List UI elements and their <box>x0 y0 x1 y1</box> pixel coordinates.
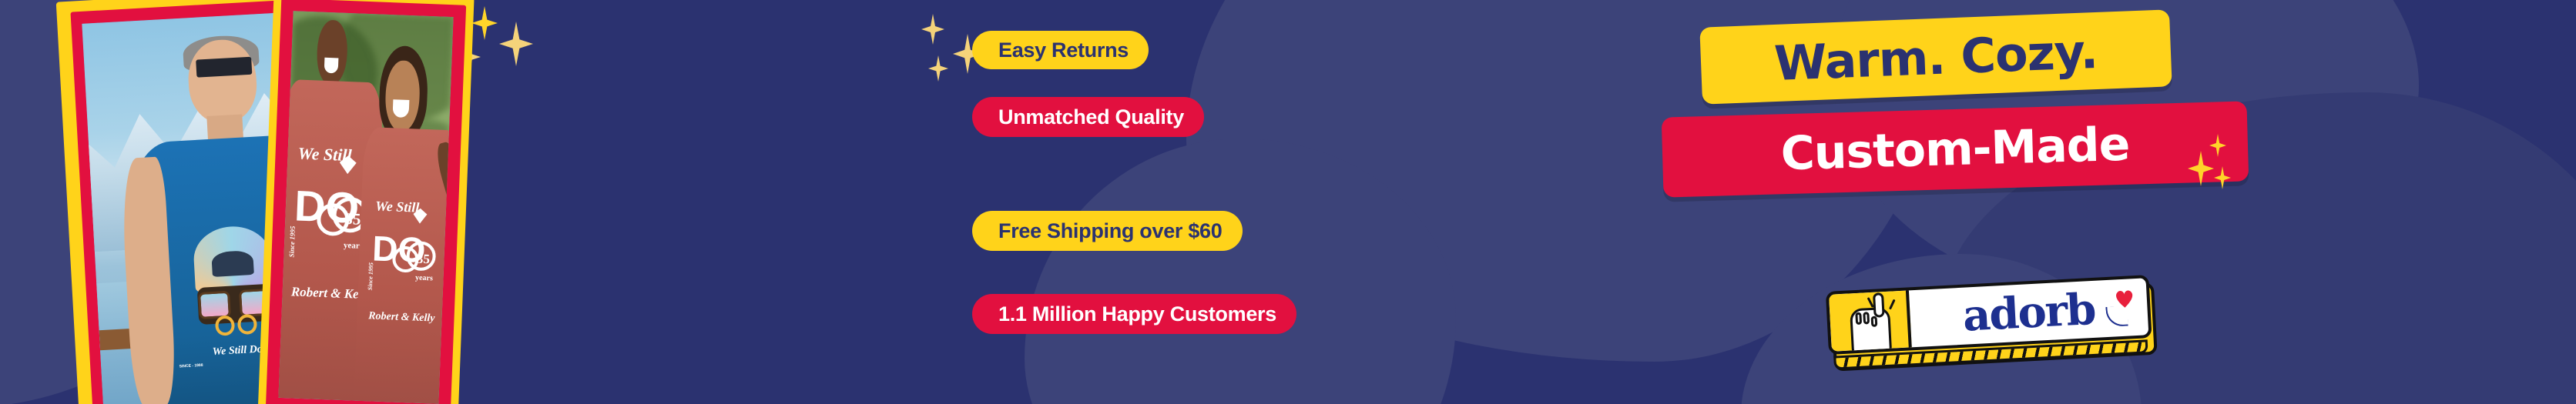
sparkle-star-icon <box>499 22 533 66</box>
sparkle-star-icon <box>471 6 498 40</box>
badge-label: 1.1 Million Happy Customers <box>998 302 1276 326</box>
headline-custom-made: Custom-Made <box>1662 101 2249 197</box>
logo-yellow-square <box>1829 290 1912 351</box>
logo-wordmark: adorb <box>1962 288 2096 338</box>
shirt-since-text: Since 1995 <box>288 226 297 258</box>
product-photo-rust-shirts[interactable]: We Still DO Since 1995 35 years Robert &… <box>257 0 474 404</box>
badge-easy-returns[interactable]: Easy Returns <box>972 31 1149 69</box>
heart-balloon-string <box>2105 306 2128 327</box>
shirt-since-text: SINCE - 1998 <box>179 363 203 369</box>
heart-balloon-icon <box>2114 289 2135 308</box>
badge-label: Unmatched Quality <box>998 105 1184 129</box>
pointing-hand-icon <box>1850 307 1892 355</box>
badge-label: Easy Returns <box>998 38 1129 62</box>
shirt-years-number: 35 <box>410 252 437 265</box>
shirt-years-label: years <box>409 274 438 282</box>
badge-unmatched-quality[interactable]: Unmatched Quality <box>972 97 1204 137</box>
badge-happy-customers[interactable]: 1.1 Million Happy Customers <box>972 294 1296 334</box>
badge-label: Free Shipping over $60 <box>998 219 1223 243</box>
badge-free-shipping[interactable]: Free Shipping over $60 <box>972 211 1243 251</box>
promo-banner: We Still Do SINCE - 1998 DAVE & JULIA <box>0 0 2576 404</box>
headline-line2: Custom-Made <box>1780 118 2130 182</box>
headline-line1: Warm. Cozy. <box>1773 22 2098 91</box>
shirt-we-still-text: We Still <box>375 199 420 216</box>
sparkle-star-icon <box>921 14 944 45</box>
logo-wordmark-area: adorb <box>1909 285 2148 340</box>
photo-image-rust: We Still DO Since 1995 35 years Robert &… <box>278 11 453 404</box>
shirt-since-text: Since 1995 <box>367 262 374 291</box>
shirt-names-text: Robert & Kelly <box>368 311 435 326</box>
sparkle-star-icon <box>928 55 948 82</box>
